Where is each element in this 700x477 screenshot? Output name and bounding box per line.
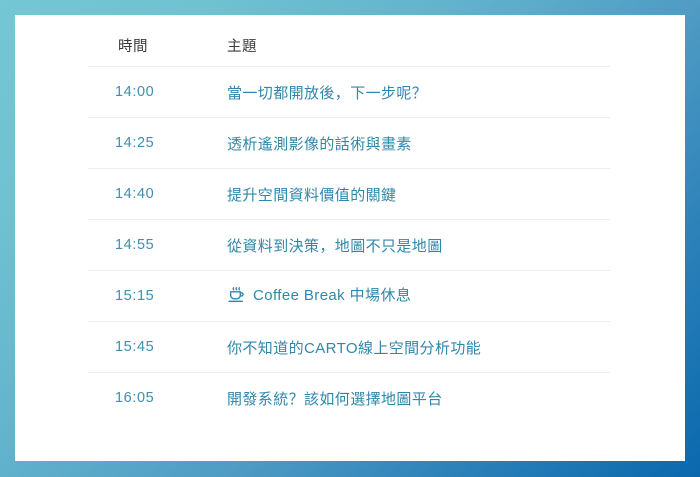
topic-label: 從資料到決策，地圖不只是地圖 [227,235,443,256]
schedule-table-body: 14:00 當一切都開放後，下一步呢？ 14:25 透析遙測影像的話術與畫素 [88,67,610,424]
topic-label: 透析遙測影像的話術與畫素 [227,133,412,154]
topic-label: 你不知道的CARTO線上空間分析功能 [227,337,481,358]
topic-content: 從資料到決策，地圖不只是地圖 [227,235,443,256]
topic-content: 提升空間資料價值的關鍵 [227,184,396,205]
cell-time: 16:05 [88,373,206,424]
schedule-table: 時間 主題 14:00 當一切都開放後，下一步呢？ 14:25 [88,24,610,423]
topic-label: Coffee Break 中場休息 [253,284,411,305]
topic-label: 開發系統？該如何選擇地圖平台 [227,388,443,409]
gradient-frame: 時間 主題 14:00 當一切都開放後，下一步呢？ 14:25 [0,0,700,477]
column-header-time: 時間 [88,24,206,67]
table-row: 15:45 你不知道的CARTO線上空間分析功能 [88,322,610,373]
schedule-table-head: 時間 主題 [88,24,610,67]
topic-label: 當一切都開放後，下一步呢？ [227,82,427,103]
schedule-card: 時間 主題 14:00 當一切都開放後，下一步呢？ 14:25 [15,15,685,461]
topic-content: 當一切都開放後，下一步呢？ [227,82,427,103]
coffee-cup-icon [227,286,246,305]
table-row: 14:25 透析遙測影像的話術與畫素 [88,118,610,169]
table-header-row: 時間 主題 [88,24,610,67]
table-row: 14:40 提升空間資料價值的關鍵 [88,169,610,220]
cell-topic: 透析遙測影像的話術與畫素 [206,118,610,169]
cell-topic: 從資料到決策，地圖不只是地圖 [206,220,610,271]
cell-time: 15:15 [88,271,206,322]
topic-content: 透析遙測影像的話術與畫素 [227,133,412,154]
table-row: 14:55 從資料到決策，地圖不只是地圖 [88,220,610,271]
cell-topic: Coffee Break 中場休息 [206,271,610,322]
cell-topic: 你不知道的CARTO線上空間分析功能 [206,322,610,373]
table-row: 16:05 開發系統？該如何選擇地圖平台 [88,373,610,424]
topic-content: 開發系統？該如何選擇地圖平台 [227,388,443,409]
table-row: 15:15 [88,271,610,322]
cell-time: 15:45 [88,322,206,373]
topic-label: 提升空間資料價值的關鍵 [227,184,396,205]
column-header-topic: 主題 [206,24,610,67]
cell-time: 14:00 [88,67,206,118]
cell-time: 14:25 [88,118,206,169]
topic-content: 你不知道的CARTO線上空間分析功能 [227,337,481,358]
cell-time: 14:40 [88,169,206,220]
cell-time: 14:55 [88,220,206,271]
table-row: 14:00 當一切都開放後，下一步呢？ [88,67,610,118]
cell-topic: 提升空間資料價值的關鍵 [206,169,610,220]
cell-topic: 開發系統？該如何選擇地圖平台 [206,373,610,424]
topic-content: Coffee Break 中場休息 [227,284,411,305]
cell-topic: 當一切都開放後，下一步呢？ [206,67,610,118]
